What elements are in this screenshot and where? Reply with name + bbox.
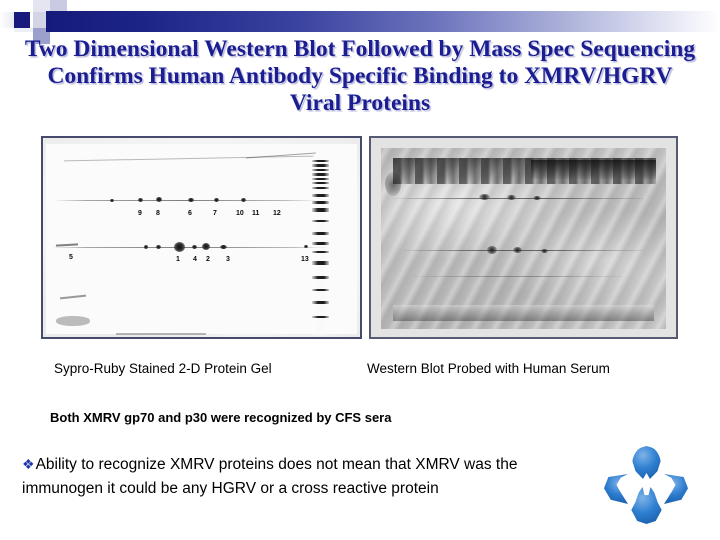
ladder-band	[312, 261, 329, 265]
ladder-band	[312, 194, 329, 197]
gel-surface: 9 8 6 7 10 11 12 5 1 4 2 3 13	[46, 144, 357, 334]
gel-spot-4	[192, 245, 197, 249]
blot-spot-lower-a	[487, 246, 497, 254]
slide-canvas: Two Dimensional Western Blot Followed by…	[0, 0, 720, 540]
blot-band-row-upper	[393, 198, 643, 199]
banner-square-dark	[14, 12, 30, 28]
blot-top-smear-2	[531, 160, 656, 179]
banner-square-fade	[0, 12, 14, 28]
gel-spot-upper-5	[241, 198, 246, 202]
gel-label-3: 3	[226, 256, 230, 264]
gel-label-10: 10	[236, 210, 244, 218]
gel-label-11: 11	[252, 210, 259, 218]
ladder-band	[312, 289, 329, 291]
blot-spot-upper-a	[479, 194, 490, 200]
gel-band-row-lower	[54, 247, 326, 248]
gel-label-1: 1	[176, 256, 180, 264]
bullet-text: Ability to recognize XMRV proteins does …	[22, 456, 517, 497]
gel-artifact-blob	[56, 316, 90, 326]
logo-petal-left-icon	[604, 474, 628, 504]
gel-spot-upper-1	[138, 198, 143, 202]
ladder-band	[312, 178, 329, 180]
caption-western-blot: Western Blot Probed with Human Serum	[367, 361, 610, 376]
four-petal-blue-logo	[604, 446, 688, 528]
ladder-band	[312, 208, 329, 212]
gel-spot-upper-4	[214, 198, 219, 202]
ladder-band	[312, 164, 329, 167]
blot-spot-upper-b	[507, 195, 516, 200]
gel-spot-upper-6	[110, 199, 114, 203]
gel-spot-upper-2	[156, 197, 162, 202]
gel-label-4: 4	[193, 256, 197, 264]
blot-band-row-faint	[413, 276, 623, 277]
diamond-bullet-icon: ❖	[22, 456, 35, 472]
gel-spot-1	[174, 242, 185, 252]
caption-protein-gel: Sypro-Ruby Stained 2-D Protein Gel	[54, 361, 272, 376]
gel-spot-3	[220, 245, 227, 249]
gel-artifact-baseline	[116, 333, 206, 335]
ladder-band	[312, 173, 329, 176]
ladder-band	[312, 276, 329, 279]
gel-artifact-streak-top	[64, 156, 314, 162]
figure-protein-gel: 9 8 6 7 10 11 12 5 1 4 2 3 13	[41, 136, 362, 339]
gel-spot-upper-3	[188, 198, 194, 203]
figure-western-blot	[369, 136, 678, 339]
ladder-band	[312, 160, 329, 162]
logo-petal-top-icon	[632, 446, 661, 479]
logo-petal-bottom-icon	[630, 487, 663, 524]
ladder-band	[312, 232, 329, 235]
gel-label-8: 8	[156, 210, 160, 218]
gel-spot-lower-a	[144, 245, 148, 249]
gel-artifact-streak-mid	[60, 295, 86, 300]
gel-label-6: 6	[188, 210, 192, 218]
ladder-band	[312, 251, 329, 253]
blot-spot-lower-c	[541, 249, 548, 253]
blot-spot-upper-c	[533, 196, 541, 200]
banner-square-thin	[14, 28, 33, 32]
gel-spot-13	[304, 245, 308, 248]
bullet-list: ❖Ability to recognize XMRV proteins does…	[22, 452, 588, 501]
gel-label-5: 5	[69, 254, 73, 262]
blot-spot-lower-b	[513, 247, 522, 253]
page-title: Two Dimensional Western Blot Followed by…	[24, 36, 696, 117]
gel-label-13: 13	[301, 256, 309, 264]
gel-band-row-upper	[56, 200, 316, 201]
blot-band-row-lower	[403, 250, 643, 251]
ladder-band	[312, 201, 329, 204]
ladder-band	[312, 316, 329, 318]
blot-membrane	[381, 148, 666, 329]
ladder-band	[312, 220, 329, 222]
gel-label-12: 12	[273, 210, 281, 218]
molecular-weight-ladder	[312, 156, 329, 336]
gel-label-7: 7	[213, 210, 217, 218]
logo-petal-right-icon	[664, 474, 688, 504]
ladder-band	[312, 187, 329, 189]
gel-label-2: 2	[206, 256, 210, 264]
blot-edge-artifact-left	[385, 172, 401, 196]
list-item: ❖Ability to recognize XMRV proteins does…	[22, 452, 588, 501]
ladder-band	[312, 182, 329, 184]
gel-spot-lower-b	[156, 245, 161, 249]
gel-label-9: 9	[138, 210, 142, 218]
banner-gradient-bar	[46, 11, 720, 32]
sub-statement: Both XMRV gp70 and p30 were recognized b…	[50, 410, 391, 425]
blot-bottom-smear	[393, 305, 654, 321]
ladder-band	[312, 301, 329, 304]
ladder-band	[312, 242, 329, 245]
ladder-band	[312, 169, 329, 171]
gel-spot-2	[202, 243, 210, 250]
